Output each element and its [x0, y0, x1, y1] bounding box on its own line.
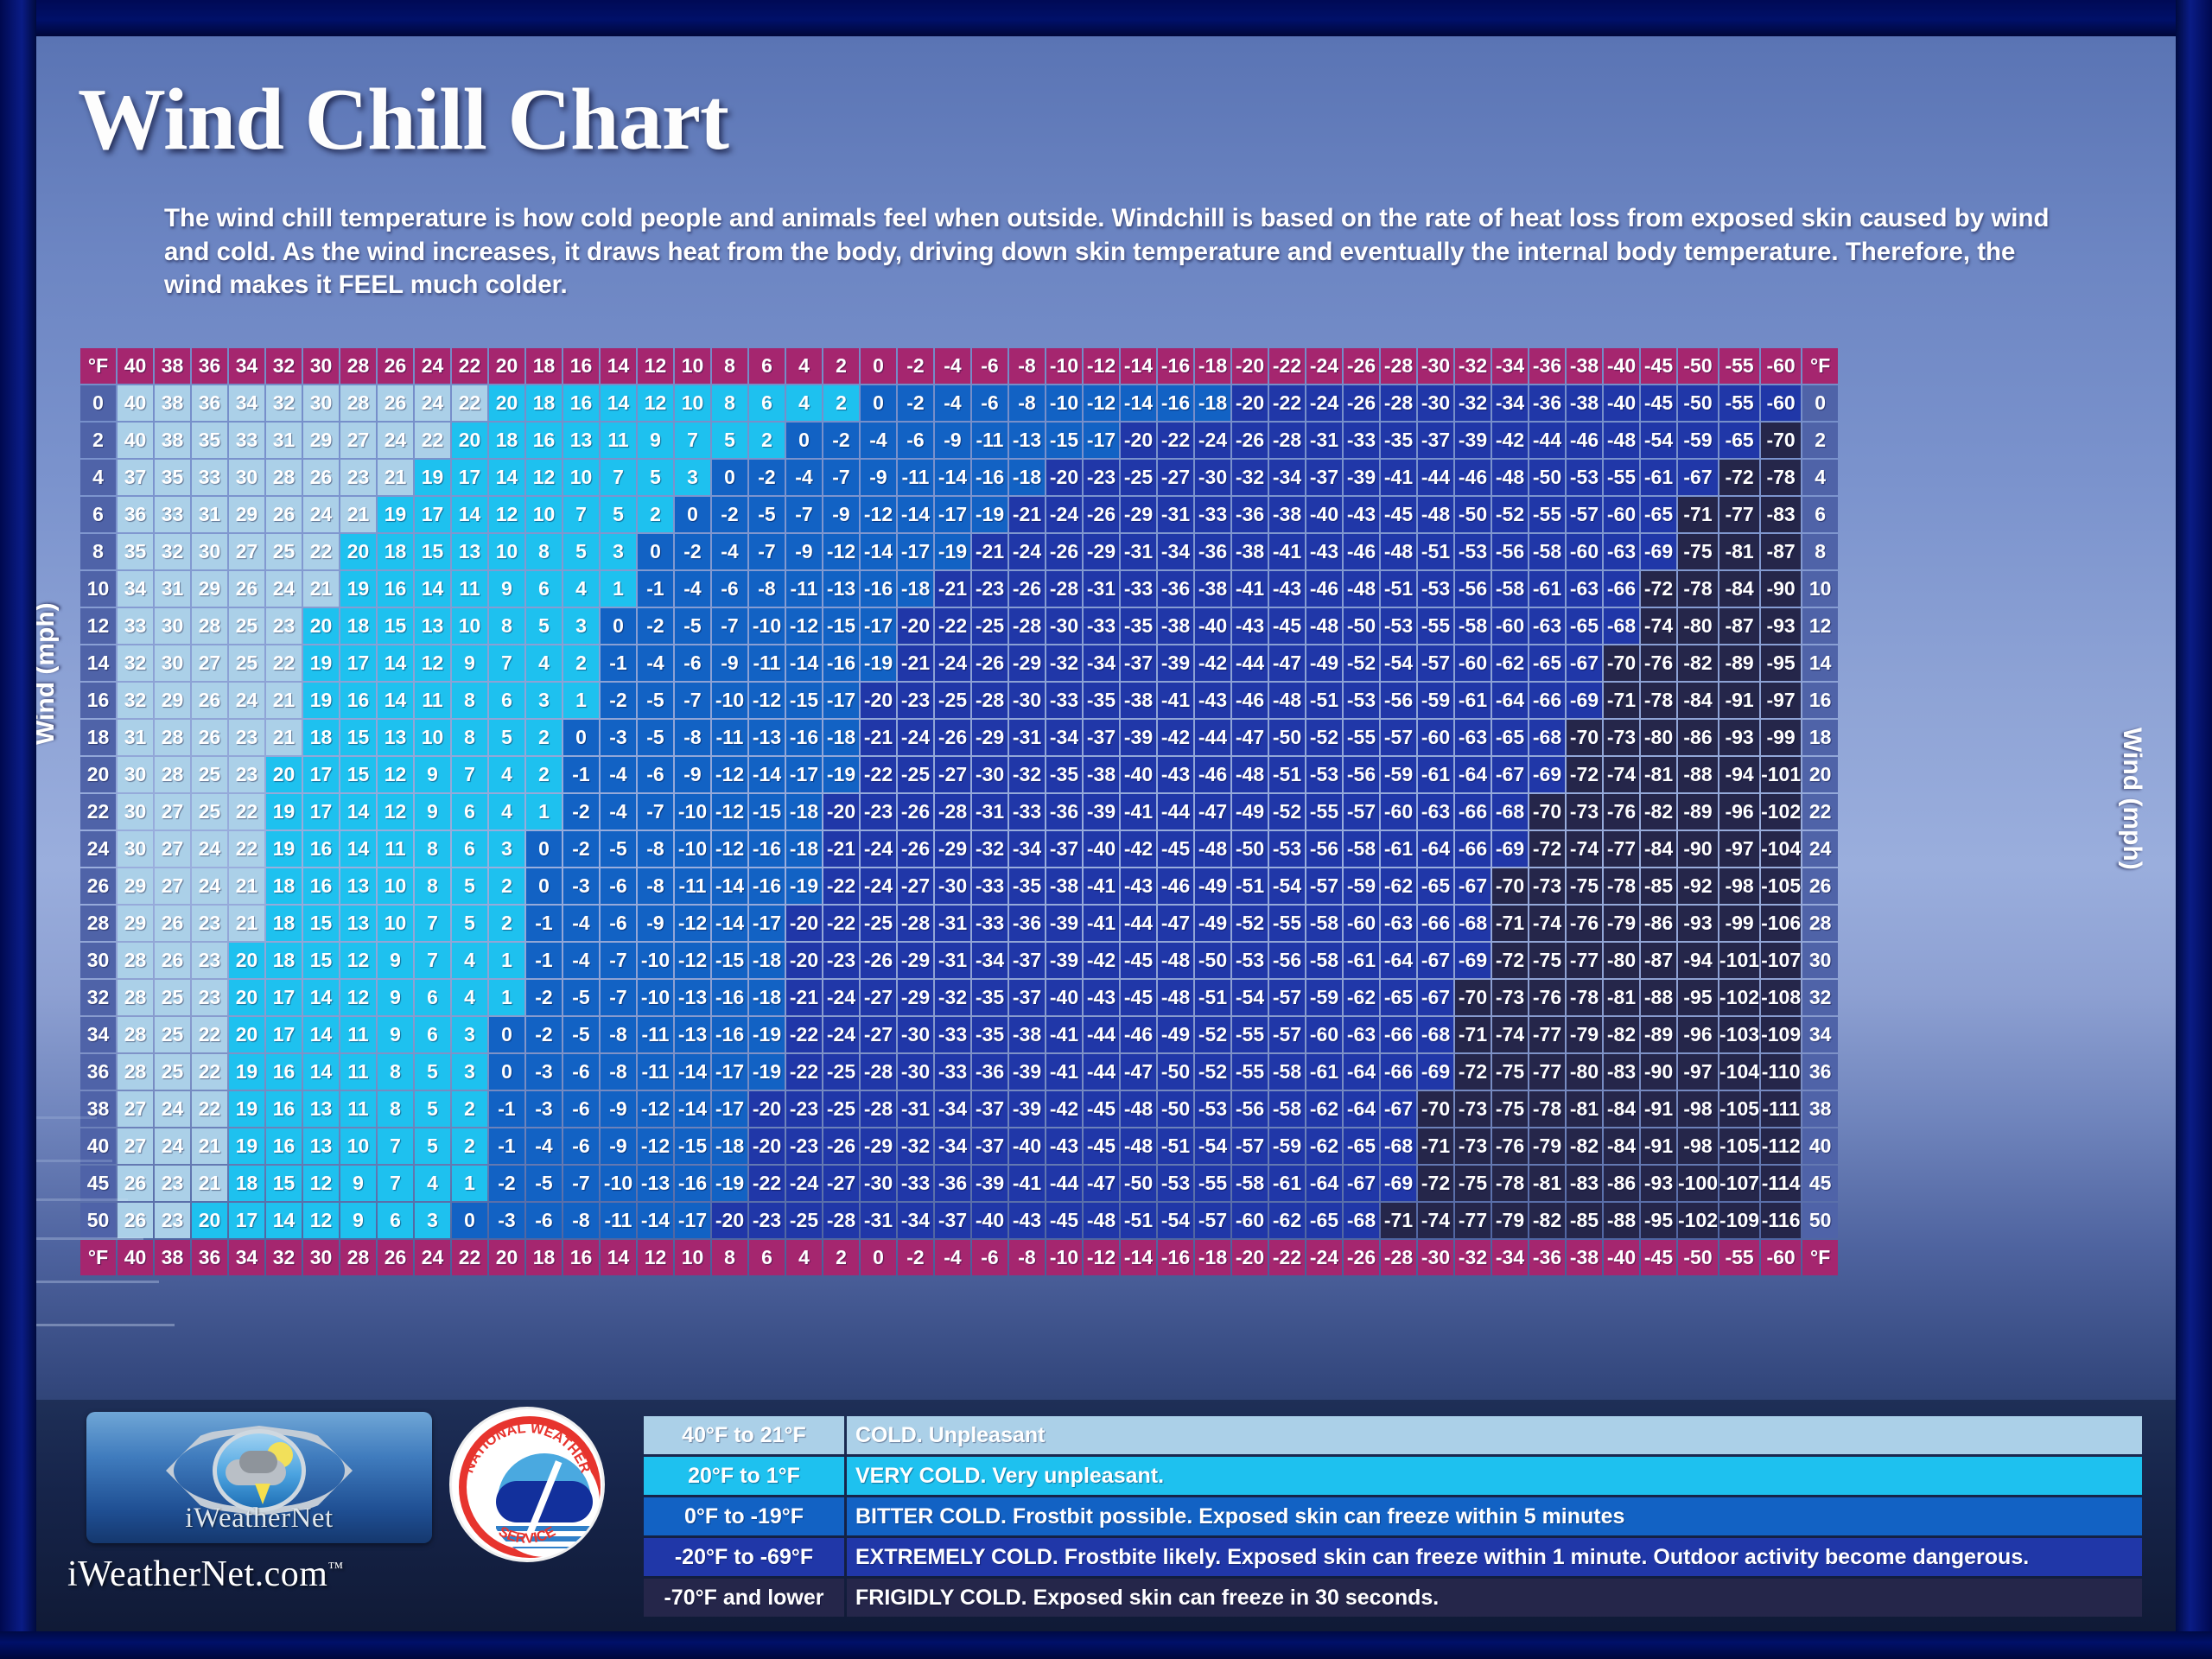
wind-chill-cell: -20 — [898, 608, 933, 644]
wind-chill-cell: -85 — [1567, 1203, 1602, 1238]
wind-chill-cell: -30 — [1418, 385, 1453, 421]
wind-chill-cell: -27 — [935, 757, 970, 792]
wind-chill-cell: -80 — [1641, 720, 1676, 755]
wind-chill-cell: -52 — [1195, 1017, 1230, 1052]
wind-chill-cell: -48 — [1344, 571, 1379, 607]
wind-chill-cell: -57 — [1269, 1017, 1305, 1052]
wind-chill-cell: -57 — [1567, 497, 1602, 532]
wind-chill-cell: 2 — [638, 497, 673, 532]
wind-chill-cell: -3 — [601, 720, 636, 755]
wind-chill-cell: -29 — [972, 720, 1007, 755]
wind-chill-cell: 15 — [303, 906, 339, 941]
wind-chill-cell: 12 — [303, 1166, 339, 1201]
header-cell-temp: 26 — [378, 1240, 413, 1275]
wind-chill-cell: -35 — [972, 1017, 1007, 1052]
header-cell-temp: -50 — [1678, 348, 1718, 384]
wind-chill-cell: -70 — [1604, 645, 1639, 681]
wind-chill-cell: -14 — [749, 757, 785, 792]
row-label-wind-right: 26 — [1802, 868, 1838, 904]
wind-chill-cell: -71 — [1418, 1128, 1453, 1164]
wind-chill-cell: -78 — [1678, 571, 1718, 607]
wind-chill-cell: -36 — [972, 1054, 1007, 1090]
wind-chill-cell: -70 — [1761, 423, 1801, 458]
wind-chill-cell: -64 — [1381, 943, 1416, 978]
wind-chill-cell: -77 — [1455, 1203, 1491, 1238]
wind-chill-cell: 3 — [415, 1203, 450, 1238]
wind-chill-cell: 7 — [675, 423, 710, 458]
wind-chill-cell: 14 — [340, 831, 376, 867]
wind-chill-cell: -44 — [1158, 794, 1193, 829]
wind-chill-cell: -8 — [563, 1203, 599, 1238]
wind-chill-cell: -80 — [1604, 943, 1639, 978]
wind-chill-cell: -39 — [1344, 460, 1379, 495]
header-cell-temp: -10 — [1046, 1240, 1082, 1275]
wind-chill-cell: 3 — [489, 831, 524, 867]
wind-chill-cell: -59 — [1381, 757, 1416, 792]
wind-chill-cell: -6 — [898, 423, 933, 458]
wind-chill-cell: -12 — [712, 757, 747, 792]
wind-chill-cell: -54 — [1232, 980, 1268, 1015]
background-water-streak — [36, 1281, 159, 1283]
wind-chill-cell: -12 — [675, 943, 710, 978]
wind-chill-cell: 24 — [415, 385, 450, 421]
wind-chill-cell: -66 — [1455, 831, 1491, 867]
wind-chill-cell: 35 — [155, 460, 190, 495]
wind-chill-cell: 6 — [378, 1203, 413, 1238]
wind-chill-cell: -30 — [861, 1166, 896, 1201]
wind-chill-cell: -2 — [898, 385, 933, 421]
wind-chill-cell: 23 — [229, 757, 264, 792]
wind-chill-cell: -84 — [1604, 1091, 1639, 1127]
wind-chill-cell: -8 — [749, 571, 785, 607]
wind-chill-cell: 38 — [155, 385, 190, 421]
wind-chill-cell: -5 — [638, 683, 673, 718]
header-cell-temp: -32 — [1455, 348, 1491, 384]
wind-chill-cell: -84 — [1641, 831, 1676, 867]
wind-chill-cell: -32 — [1455, 385, 1491, 421]
wind-chill-cell: 16 — [526, 423, 562, 458]
wind-chill-cell: -86 — [1641, 906, 1676, 941]
iweathernet-logo[interactable]: iWeatherNet — [86, 1412, 432, 1543]
wind-chill-cell: 10 — [415, 720, 450, 755]
wind-chill-cell: -44 — [1084, 1017, 1119, 1052]
wind-chill-cell: -53 — [1269, 831, 1305, 867]
wind-chill-cell: -41 — [1084, 906, 1119, 941]
wind-chill-cell: 21 — [229, 906, 264, 941]
wind-chill-cell: -10 — [601, 1166, 636, 1201]
wind-chill-cell: -70 — [1567, 720, 1602, 755]
wind-chill-cell: 15 — [340, 720, 376, 755]
wind-chill-cell: -94 — [1678, 943, 1718, 978]
wind-chill-cell: 20 — [229, 943, 264, 978]
wind-chill-cell: 9 — [452, 645, 487, 681]
wind-chill-cell: 25 — [155, 1054, 190, 1090]
wind-chill-cell: -54 — [1381, 645, 1416, 681]
wind-chill-cell: 2 — [489, 906, 524, 941]
wind-chill-cell: -66 — [1418, 906, 1453, 941]
header-cell-temp: -22 — [1269, 1240, 1305, 1275]
wind-chill-cell: -48 — [1492, 460, 1528, 495]
wind-chill-cell: -52 — [1306, 720, 1342, 755]
wind-chill-cell: 5 — [489, 720, 524, 755]
wind-chill-cell: -32 — [1009, 757, 1045, 792]
wind-chill-cell: -60 — [1418, 720, 1453, 755]
wind-chill-cell: -38 — [1195, 571, 1230, 607]
header-cell-temp: 32 — [266, 1240, 302, 1275]
wind-chill-cell: -14 — [786, 645, 822, 681]
row-label-wind-right: 50 — [1802, 1203, 1838, 1238]
wind-chill-cell: -82 — [1641, 794, 1676, 829]
wind-chill-cell: 2 — [452, 1091, 487, 1127]
wind-chill-cell: -102 — [1761, 794, 1801, 829]
wind-chill-cell: -18 — [786, 831, 822, 867]
table-row: 2430272422191614118630-2-5-8-10-12-16-18… — [80, 831, 1838, 867]
wind-chill-cell: -10 — [1046, 385, 1082, 421]
header-cell-temp: 12 — [638, 348, 673, 384]
wind-chill-cell: -50 — [1232, 831, 1268, 867]
table-header-row: °F4038363432302826242220181614121086420-… — [80, 1240, 1838, 1275]
legend-row: 40°F to 21°FCOLD. Unpleasant — [644, 1416, 2142, 1454]
wind-chill-cell: 24 — [378, 423, 413, 458]
table-row: 143230272522191714129742-1-4-6-9-11-14-1… — [80, 645, 1838, 681]
wind-chill-cell: -42 — [1492, 423, 1528, 458]
wind-chill-cell: -106 — [1761, 906, 1801, 941]
wind-chill-cell: -37 — [1121, 645, 1156, 681]
wind-chill-cell: 27 — [155, 831, 190, 867]
wind-chill-cell: 30 — [155, 608, 190, 644]
legend-row: -70°F and lowerFRIGIDLY COLD. Exposed sk… — [644, 1579, 2142, 1617]
wind-chill-cell: -32 — [935, 980, 970, 1015]
wind-chill-cell: -46 — [1344, 534, 1379, 569]
wind-chill-cell: -31 — [935, 943, 970, 978]
wind-chill-cell: -72 — [1455, 1054, 1491, 1090]
header-cell-temp: 24 — [415, 348, 450, 384]
wind-chill-cell: -6 — [563, 1128, 599, 1164]
wind-chill-cell: -58 — [1306, 943, 1342, 978]
wind-chill-cell: 28 — [266, 460, 302, 495]
wind-chill-cell: -9 — [935, 423, 970, 458]
row-label-wind-right: 4 — [1802, 460, 1838, 495]
wind-chill-cell: -94 — [1719, 757, 1759, 792]
wind-chill-cell: -68 — [1344, 1203, 1379, 1238]
wind-chill-cell: -102 — [1719, 980, 1759, 1015]
wind-chill-cell: -16 — [861, 571, 896, 607]
legend-table: 40°F to 21°FCOLD. Unpleasant20°F to 1°FV… — [641, 1414, 2145, 1619]
wind-chill-cell: -22 — [786, 1017, 822, 1052]
wind-chill-cell: -25 — [935, 683, 970, 718]
wind-chill-cell: 14 — [378, 645, 413, 681]
wind-chill-cell: -32 — [898, 1128, 933, 1164]
wind-chill-cell: -31 — [1306, 423, 1342, 458]
wind-chill-cell: -9 — [823, 497, 859, 532]
wind-chill-cell: -10 — [675, 794, 710, 829]
wind-chill-cell: -25 — [861, 906, 896, 941]
wind-chill-cell: -13 — [1009, 423, 1045, 458]
wind-chill-cell: -61 — [1269, 1166, 1305, 1201]
header-corner-degf: °F — [80, 348, 116, 384]
row-label-wind-left: 18 — [80, 720, 116, 755]
legend-range: 0°F to -19°F — [644, 1497, 844, 1535]
header-cell-temp: -50 — [1678, 1240, 1718, 1275]
wind-chill-cell: -6 — [563, 1054, 599, 1090]
wind-chill-cell: -18 — [749, 980, 785, 1015]
wind-chill-cell: 22 — [415, 423, 450, 458]
wind-chill-cell: -37 — [1418, 423, 1453, 458]
wind-chill-cell: -81 — [1529, 1166, 1565, 1201]
wind-chill-cell: -107 — [1719, 1166, 1759, 1201]
row-label-wind-right: 12 — [1802, 608, 1838, 644]
wind-chill-cell: -20 — [749, 1128, 785, 1164]
wind-chill-cell: -2 — [823, 423, 859, 458]
wind-chill-cell: -57 — [1269, 980, 1305, 1015]
wind-chill-cell: -95 — [1641, 1203, 1676, 1238]
wind-chill-cell: 16 — [340, 683, 376, 718]
wind-chill-cell: -36 — [935, 1166, 970, 1201]
wind-chill-cell: -58 — [1232, 1166, 1268, 1201]
wind-chill-cell: -68 — [1381, 1128, 1416, 1164]
legend-row: -20°F to -69°FEXTREMELY COLD. Frostbite … — [644, 1538, 2142, 1576]
wind-chill-cell: -22 — [935, 608, 970, 644]
wind-chill-cell: -69 — [1567, 683, 1602, 718]
wind-chill-cell: -12 — [786, 608, 822, 644]
wind-chill-cell: -50 — [1678, 385, 1718, 421]
wind-chill-cell: -49 — [1158, 1017, 1193, 1052]
wind-chill-cell: -68 — [1529, 720, 1565, 755]
wind-chill-cell: -61 — [1455, 683, 1491, 718]
wind-chill-cell: -54 — [1269, 868, 1305, 904]
wind-chill-cell: 4 — [452, 943, 487, 978]
wind-chill-cell: -42 — [1121, 831, 1156, 867]
row-label-wind-right: 8 — [1802, 534, 1838, 569]
wind-chill-cell: -80 — [1678, 608, 1718, 644]
wind-chill-cell: -43 — [1158, 757, 1193, 792]
wind-chill-cell: 1 — [452, 1166, 487, 1201]
wind-chill-cell: -66 — [1529, 683, 1565, 718]
wind-chill-cell: 13 — [415, 608, 450, 644]
wind-chill-cell: -9 — [675, 757, 710, 792]
wind-chill-cell: -71 — [1381, 1203, 1416, 1238]
wind-chill-cell: -15 — [749, 794, 785, 829]
wind-chill-cell: 4 — [786, 385, 822, 421]
wind-chill-cell: -53 — [1455, 534, 1491, 569]
wind-chill-cell: -37 — [1306, 460, 1342, 495]
legend-range: 40°F to 21°F — [644, 1416, 844, 1454]
wind-chill-cell: 26 — [303, 460, 339, 495]
wind-chill-cell: -85 — [1641, 868, 1676, 904]
wind-chill-cell: -67 — [1567, 645, 1602, 681]
wind-chill-cell: -22 — [823, 868, 859, 904]
wind-chill-cell: -15 — [675, 1128, 710, 1164]
wind-chill-cell: 9 — [415, 757, 450, 792]
wind-chill-cell: 7 — [601, 460, 636, 495]
wind-chill-cell: -69 — [1418, 1054, 1453, 1090]
wind-chill-cell: -19 — [749, 1017, 785, 1052]
wind-chill-cell: -36 — [1009, 906, 1045, 941]
wind-chill-cell: -67 — [1418, 943, 1453, 978]
wind-chill-cell: -33 — [1121, 571, 1156, 607]
wind-chill-cell: -73 — [1492, 980, 1528, 1015]
wind-chill-cell: -53 — [1381, 608, 1416, 644]
wind-chill-cell: -53 — [1158, 1166, 1193, 1201]
wind-chill-cell: -14 — [638, 1203, 673, 1238]
wind-chill-cell: -67 — [1455, 868, 1491, 904]
wind-chill-cell: -70 — [1455, 980, 1491, 1015]
wind-chill-cell: -36 — [1529, 385, 1565, 421]
wind-chill-cell: 24 — [192, 868, 227, 904]
wind-chill-cell: -33 — [972, 906, 1007, 941]
wind-chill-cell: -19 — [861, 645, 896, 681]
wind-chill-cell: -23 — [1084, 460, 1119, 495]
wind-chill-cell: -32 — [1232, 460, 1268, 495]
wind-chill-cell: -22 — [786, 1054, 822, 1090]
wind-chill-cell: -25 — [823, 1054, 859, 1090]
wind-chill-cell: 4 — [563, 571, 599, 607]
wind-chill-cell: -12 — [638, 1128, 673, 1164]
wind-chill-cell: -1 — [563, 757, 599, 792]
wind-chill-cell: -39 — [1046, 943, 1082, 978]
wind-chill-cell: -46 — [1158, 868, 1193, 904]
wind-chill-cell: -13 — [823, 571, 859, 607]
wind-chill-cell: -41 — [1381, 460, 1416, 495]
wind-chill-cell: -61 — [1306, 1054, 1342, 1090]
wind-chill-cell: -36 — [1046, 794, 1082, 829]
wind-chill-cell: 30 — [155, 645, 190, 681]
wind-chill-cell: -20 — [786, 906, 822, 941]
wind-chill-cell: -78 — [1641, 683, 1676, 718]
wind-chill-cell: -24 — [823, 1017, 859, 1052]
wind-chill-cell: -34 — [1046, 720, 1082, 755]
wind-chill-cell: -2 — [712, 497, 747, 532]
wind-chill-cell: -43 — [1121, 868, 1156, 904]
wind-chill-cell: -43 — [1344, 497, 1379, 532]
wind-chill-cell: -62 — [1306, 1091, 1342, 1127]
table-row: 4373533302826232119171412107530-2-4-7-9-… — [80, 460, 1838, 495]
wind-chill-cell: -13 — [675, 980, 710, 1015]
wind-chill-cell: 18 — [489, 423, 524, 458]
wind-chill-cell: 11 — [340, 1054, 376, 1090]
wind-chill-cell: 24 — [229, 683, 264, 718]
wind-chill-cell: -39 — [1046, 906, 1082, 941]
wind-chill-cell: -57 — [1344, 794, 1379, 829]
wind-chill-cell: -44 — [1418, 460, 1453, 495]
wind-chill-cell: -49 — [1306, 645, 1342, 681]
table-row: 2403835333129272422201816131197520-2-4-6… — [80, 423, 1838, 458]
wind-chill-cell: -24 — [861, 831, 896, 867]
wind-chill-cell: -51 — [1158, 1128, 1193, 1164]
wind-chill-cell: 0 — [675, 497, 710, 532]
header-cell-temp: -16 — [1158, 348, 1193, 384]
header-cell-temp: -18 — [1195, 1240, 1230, 1275]
wind-chill-cell: -76 — [1567, 906, 1602, 941]
wind-chill-cell: -15 — [1046, 423, 1082, 458]
wind-chill-cell: 3 — [563, 608, 599, 644]
national-weather-service-logo[interactable]: NATIONAL WEATHER SERVICE — [449, 1407, 605, 1562]
wind-chill-cell: 30 — [118, 831, 153, 867]
wind-chill-cell: -34 — [1009, 831, 1045, 867]
wind-chill-cell: -74 — [1604, 757, 1639, 792]
wind-chill-cell: -24 — [861, 868, 896, 904]
wind-chill-cell: -22 — [861, 757, 896, 792]
poster-footer: iWeatherNet iWeatherNet.com™ — [36, 1400, 2176, 1631]
wind-chill-cell: -67 — [1492, 757, 1528, 792]
wind-chill-cell: 2 — [526, 757, 562, 792]
wind-chill-cell: -6 — [972, 385, 1007, 421]
wind-chill-cell: -44 — [1232, 645, 1268, 681]
wind-chill-cell: 2 — [489, 868, 524, 904]
wind-chill-cell: -62 — [1269, 1203, 1305, 1238]
wind-chill-cell: -68 — [1455, 906, 1491, 941]
wind-chill-cell: 0 — [786, 423, 822, 458]
wind-chill-cell: -56 — [1269, 943, 1305, 978]
wind-chill-cell: 25 — [266, 534, 302, 569]
header-cell-temp: -30 — [1418, 348, 1453, 384]
wind-chill-cell: -48 — [1195, 831, 1230, 867]
wind-chill-cell: -50 — [1121, 1166, 1156, 1201]
wind-chill-cell: -42 — [1046, 1091, 1082, 1127]
wind-chill-cell: -31 — [1158, 497, 1193, 532]
wind-chill-cell: -110 — [1761, 1054, 1801, 1090]
header-cell-temp: 2 — [823, 348, 859, 384]
wind-chill-cell: -16 — [749, 831, 785, 867]
wind-chill-cell: 9 — [378, 1017, 413, 1052]
wind-chill-cell: 21 — [340, 497, 376, 532]
wind-chill-cell: -50 — [1195, 943, 1230, 978]
legend-description: EXTREMELY COLD. Frostbite likely. Expose… — [847, 1538, 2142, 1576]
header-cell-temp: -18 — [1195, 348, 1230, 384]
legend-row: 20°F to 1°FVERY COLD. Very unpleasant. — [644, 1457, 2142, 1495]
wind-chill-cell: 7 — [489, 645, 524, 681]
wind-chill-cell: 9 — [340, 1203, 376, 1238]
wind-chill-cell: -21 — [935, 571, 970, 607]
wind-chill-cell: -48 — [1306, 608, 1342, 644]
wind-chill-cell: -12 — [1084, 385, 1119, 421]
wind-chill-cell: -21 — [786, 980, 822, 1015]
wind-chill-cell: -35 — [972, 980, 1007, 1015]
wind-chill-cell: 19 — [378, 497, 413, 532]
wind-chill-cell: 30 — [303, 385, 339, 421]
wind-chill-cell: -98 — [1678, 1091, 1718, 1127]
wind-chill-cell: 8 — [452, 720, 487, 755]
wind-chill-cell: -48 — [1121, 1091, 1156, 1127]
row-label-wind-left: 45 — [80, 1166, 116, 1201]
wind-chill-cell: -14 — [675, 1054, 710, 1090]
wind-chill-cell: -5 — [638, 720, 673, 755]
wind-chill-cell: -65 — [1344, 1128, 1379, 1164]
wind-chill-cell: -24 — [1009, 534, 1045, 569]
header-cell-temp: -28 — [1381, 348, 1416, 384]
wind-chill-cell: -4 — [601, 757, 636, 792]
background-water-streak — [36, 1237, 143, 1240]
header-cell-temp: 12 — [638, 1240, 673, 1275]
wind-chill-cell: 35 — [192, 423, 227, 458]
wind-chill-cell: 21 — [192, 1128, 227, 1164]
wind-chill-cell: 8 — [415, 831, 450, 867]
wind-chill-cell: -56 — [1306, 831, 1342, 867]
wind-chill-cell: -59 — [1344, 868, 1379, 904]
wind-chill-cell: -8 — [638, 831, 673, 867]
wind-chill-cell: -45 — [1121, 980, 1156, 1015]
header-cell-temp: -4 — [935, 1240, 970, 1275]
wind-chill-cell: 11 — [452, 571, 487, 607]
wind-chill-cell: -55 — [1306, 794, 1342, 829]
wind-chill-cell: -62 — [1344, 980, 1379, 1015]
wind-chill-cell: -16 — [712, 980, 747, 1015]
wind-chill-cell: -87 — [1641, 943, 1676, 978]
wind-chill-cell: -28 — [1381, 385, 1416, 421]
wind-chill-cell: -22 — [749, 1166, 785, 1201]
wind-chill-cell: -44 — [1084, 1054, 1119, 1090]
row-label-wind-right: 2 — [1802, 423, 1838, 458]
